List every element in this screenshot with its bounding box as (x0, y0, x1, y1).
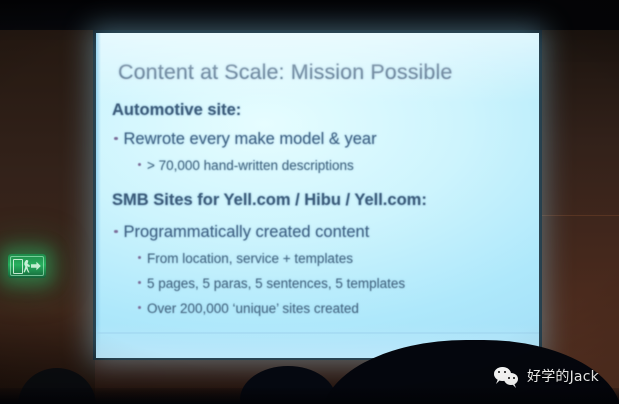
speech-bubble-front (504, 373, 518, 385)
bullet-five-pages: 5 pages, 5 paras, 5 sentences, 5 templat… (138, 276, 405, 291)
wechat-logo-icon (494, 366, 520, 386)
bubble-eye (508, 377, 510, 379)
screen-bottom-rule (96, 332, 539, 334)
bullet-marker-icon (138, 281, 141, 284)
bullet-text: 5 pages, 5 paras, 5 sentences, 5 templat… (147, 276, 405, 291)
bullet-marker-icon (138, 256, 141, 259)
projection-screen: Content at Scale: Mission Possible Autom… (96, 33, 539, 358)
running-man-icon (23, 260, 30, 273)
wall-panel-left (0, 30, 95, 404)
watermark-text: 好学的Jack (527, 366, 599, 386)
bubble-eye (513, 377, 515, 379)
bubble-eye (504, 371, 506, 373)
bullet-text: Over 200,000 ‘unique’ sites created (147, 301, 359, 316)
watermark: 好学的Jack (494, 366, 599, 386)
bullet-unique-sites-created: Over 200,000 ‘unique’ sites created (138, 301, 359, 316)
audience-shoulders (0, 388, 619, 404)
arrow-right-icon (31, 261, 41, 271)
bubble-eye (498, 371, 500, 373)
bullet-rewrote: Rewrote every make model & year (114, 130, 377, 149)
bullet-marker-icon (138, 163, 141, 166)
slide-heading-smb-sites: SMB Sites for Yell.com / Hibu / Yell.com… (112, 191, 427, 210)
exit-door-icon (13, 259, 23, 274)
bullet-text: > 70,000 hand-written descriptions (147, 158, 354, 173)
slide-content: Content at Scale: Mission Possible Autom… (96, 33, 539, 358)
bullet-text: From location, service + templates (147, 251, 353, 266)
bullet-programmatically-created: Programmatically created content (114, 223, 369, 242)
bullet-text: Rewrote every make model & year (124, 130, 377, 149)
presentation-photo-scene: Content at Scale: Mission Possible Autom… (0, 0, 619, 404)
slide-title: Content at Scale: Mission Possible (118, 60, 452, 85)
bullet-marker-icon (114, 230, 118, 234)
bullet-marker-icon (114, 137, 118, 141)
emergency-exit-sign-icon (8, 254, 46, 278)
slide-heading-automotive: Automotive site: (112, 101, 241, 120)
bullet-handwritten-descriptions: > 70,000 hand-written descriptions (138, 158, 354, 173)
bullet-from-location: From location, service + templates (138, 251, 353, 266)
wall-panel-right (540, 30, 619, 404)
bullet-text: Programmatically created content (124, 223, 370, 242)
bullet-marker-icon (138, 306, 141, 309)
wall-seam (540, 215, 619, 216)
exit-sign-inner (10, 256, 44, 276)
